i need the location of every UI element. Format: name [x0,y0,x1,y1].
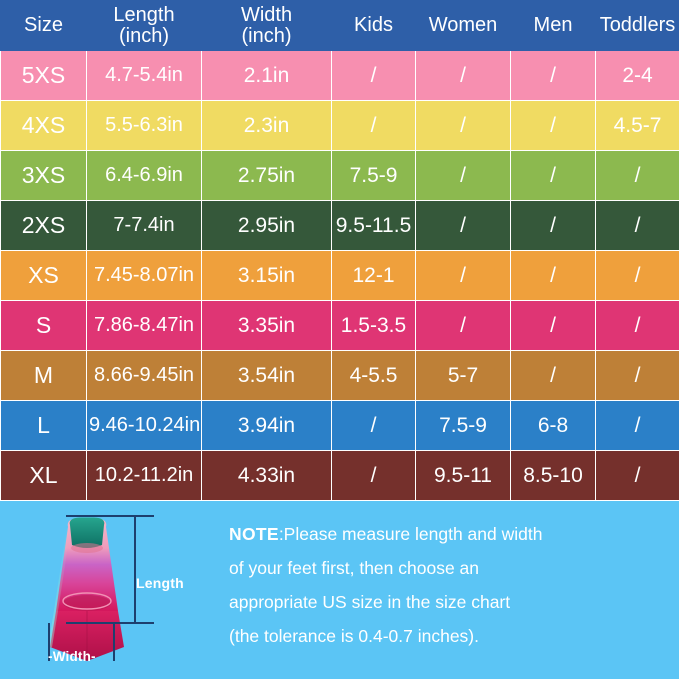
cell-length: 7.86-8.47in [87,301,202,351]
column-header-kids-line1: Kids [354,14,393,36]
cell-length: 5.5-6.3in [87,101,202,151]
column-header-size: Size [1,1,87,51]
cell-women: / [416,251,511,301]
cell-width: 2.3in [202,101,332,151]
cell-toddlers: / [596,451,679,501]
table-row: 3XS6.4-6.9in2.75in7.5-9/// [1,151,679,201]
column-header-width-line1: Width [241,4,292,26]
cell-width: 3.54in [202,351,332,401]
cell-kids: / [332,451,416,501]
cell-length: 8.66-9.45in [87,351,202,401]
table-row: S7.86-8.47in3.35in1.5-3.5/// [1,301,679,351]
cell-length: 6.4-6.9in [87,151,202,201]
length-dimension-label: Length [136,575,184,591]
table-row: 5XS4.7-5.4in2.1in///2-4 [1,51,679,101]
cell-toddlers: / [596,201,679,251]
cell-men: / [511,351,596,401]
table-row: 4XS5.5-6.3in2.3in///4.5-7 [1,101,679,151]
column-header-women-line1: Women [429,14,498,36]
cell-women: / [416,301,511,351]
table-header: Size Length (inch) Width (inch) Kids Wom… [1,1,679,51]
cell-women: / [416,51,511,101]
column-header-width: Width (inch) [202,1,332,51]
cell-kids: 12-1 [332,251,416,301]
cell-width: 2.1in [202,51,332,101]
cell-toddlers: / [596,351,679,401]
length-dim-bottom-tick [66,622,154,624]
cell-men: / [511,151,596,201]
note-line-2: of your feet first, then choose an [229,551,669,585]
cell-size: 5XS [1,51,87,101]
table-row: 2XS7-7.4in2.95in9.5-11.5/// [1,201,679,251]
cell-women: / [416,201,511,251]
cell-width: 2.75in [202,151,332,201]
column-header-kids: Kids [332,1,416,51]
cell-length: 9.46-10.24in [87,401,202,451]
cell-men: 8.5-10 [511,451,596,501]
cell-women: 9.5-11 [416,451,511,501]
cell-kids: / [332,51,416,101]
cell-men: / [511,201,596,251]
cell-width: 3.15in [202,251,332,301]
length-dim-arrow-line [134,515,136,623]
cell-toddlers: / [596,151,679,201]
header-row: Size Length (inch) Width (inch) Kids Wom… [1,1,679,51]
note-line-1: NOTE:Please measure length and width [229,517,669,551]
cell-toddlers: / [596,301,679,351]
cell-size: S [1,301,87,351]
cell-men: 6-8 [511,401,596,451]
note-line-4: (the tolerance is 0.4-0.7 inches). [229,619,669,653]
column-header-size-line1: Size [24,14,63,36]
cell-men: / [511,251,596,301]
width-dim-right-tick [113,623,115,661]
fin-toe-opening [71,543,103,553]
table-row: XS7.45-8.07in3.15in12-1/// [1,251,679,301]
cell-size: 2XS [1,201,87,251]
cell-width: 2.95in [202,201,332,251]
cell-kids: 4-5.5 [332,351,416,401]
cell-kids: / [332,401,416,451]
cell-size: 4XS [1,101,87,151]
cell-length: 7-7.4in [87,201,202,251]
cell-length: 7.45-8.07in [87,251,202,301]
cell-women: / [416,151,511,201]
cell-length: 10.2-11.2in [87,451,202,501]
table-row: L9.46-10.24in3.94in/7.5-96-8/ [1,401,679,451]
cell-width: 3.94in [202,401,332,451]
note-panel: Length -Width- NOTE:Please measure lengt… [0,501,679,679]
column-header-width-line2: (inch) [203,26,330,47]
cell-kids: 7.5-9 [332,151,416,201]
cell-size: XS [1,251,87,301]
cell-men: / [511,51,596,101]
cell-women: 5-7 [416,351,511,401]
cell-kids: 9.5-11.5 [332,201,416,251]
cell-width: 3.35in [202,301,332,351]
cell-size: 3XS [1,151,87,201]
cell-toddlers: / [596,251,679,301]
size-chart-table: Size Length (inch) Width (inch) Kids Wom… [0,0,679,501]
table-row: XL10.2-11.2in4.33in/9.5-118.5-10/ [1,451,679,501]
column-header-length-line2: (inch) [88,26,200,47]
cell-toddlers: / [596,401,679,451]
cell-women: / [416,101,511,151]
cell-men: / [511,301,596,351]
column-header-women: Women [416,1,511,51]
cell-size: L [1,401,87,451]
table-body: 5XS4.7-5.4in2.1in///2-44XS5.5-6.3in2.3in… [1,51,679,501]
column-header-length-line1: Length [113,4,174,26]
cell-kids: 1.5-3.5 [332,301,416,351]
cell-toddlers: 4.5-7 [596,101,679,151]
note-label: NOTE [229,524,279,544]
cell-men: / [511,101,596,151]
fin-figure: Length -Width- [0,501,215,679]
note-line-3: appropriate US size in the size chart [229,585,669,619]
width-dimension-label: -Width- [48,649,96,664]
column-header-toddlers: Toddlers [596,1,679,51]
cell-width: 4.33in [202,451,332,501]
column-header-men-line1: Men [534,14,573,36]
note-line-1-text: :Please measure length and width [279,524,543,544]
cell-kids: / [332,101,416,151]
column-header-length: Length (inch) [87,1,202,51]
note-text-block: NOTE:Please measure length and width of … [215,501,679,679]
column-header-toddlers-line1: Toddlers [600,14,676,36]
table-row: M8.66-9.45in3.54in4-5.55-7// [1,351,679,401]
column-header-men: Men [511,1,596,51]
size-chart-page: Size Length (inch) Width (inch) Kids Wom… [0,0,679,679]
cell-size: M [1,351,87,401]
cell-length: 4.7-5.4in [87,51,202,101]
cell-toddlers: 2-4 [596,51,679,101]
cell-size: XL [1,451,87,501]
length-dim-top-tick [66,515,154,517]
cell-women: 7.5-9 [416,401,511,451]
